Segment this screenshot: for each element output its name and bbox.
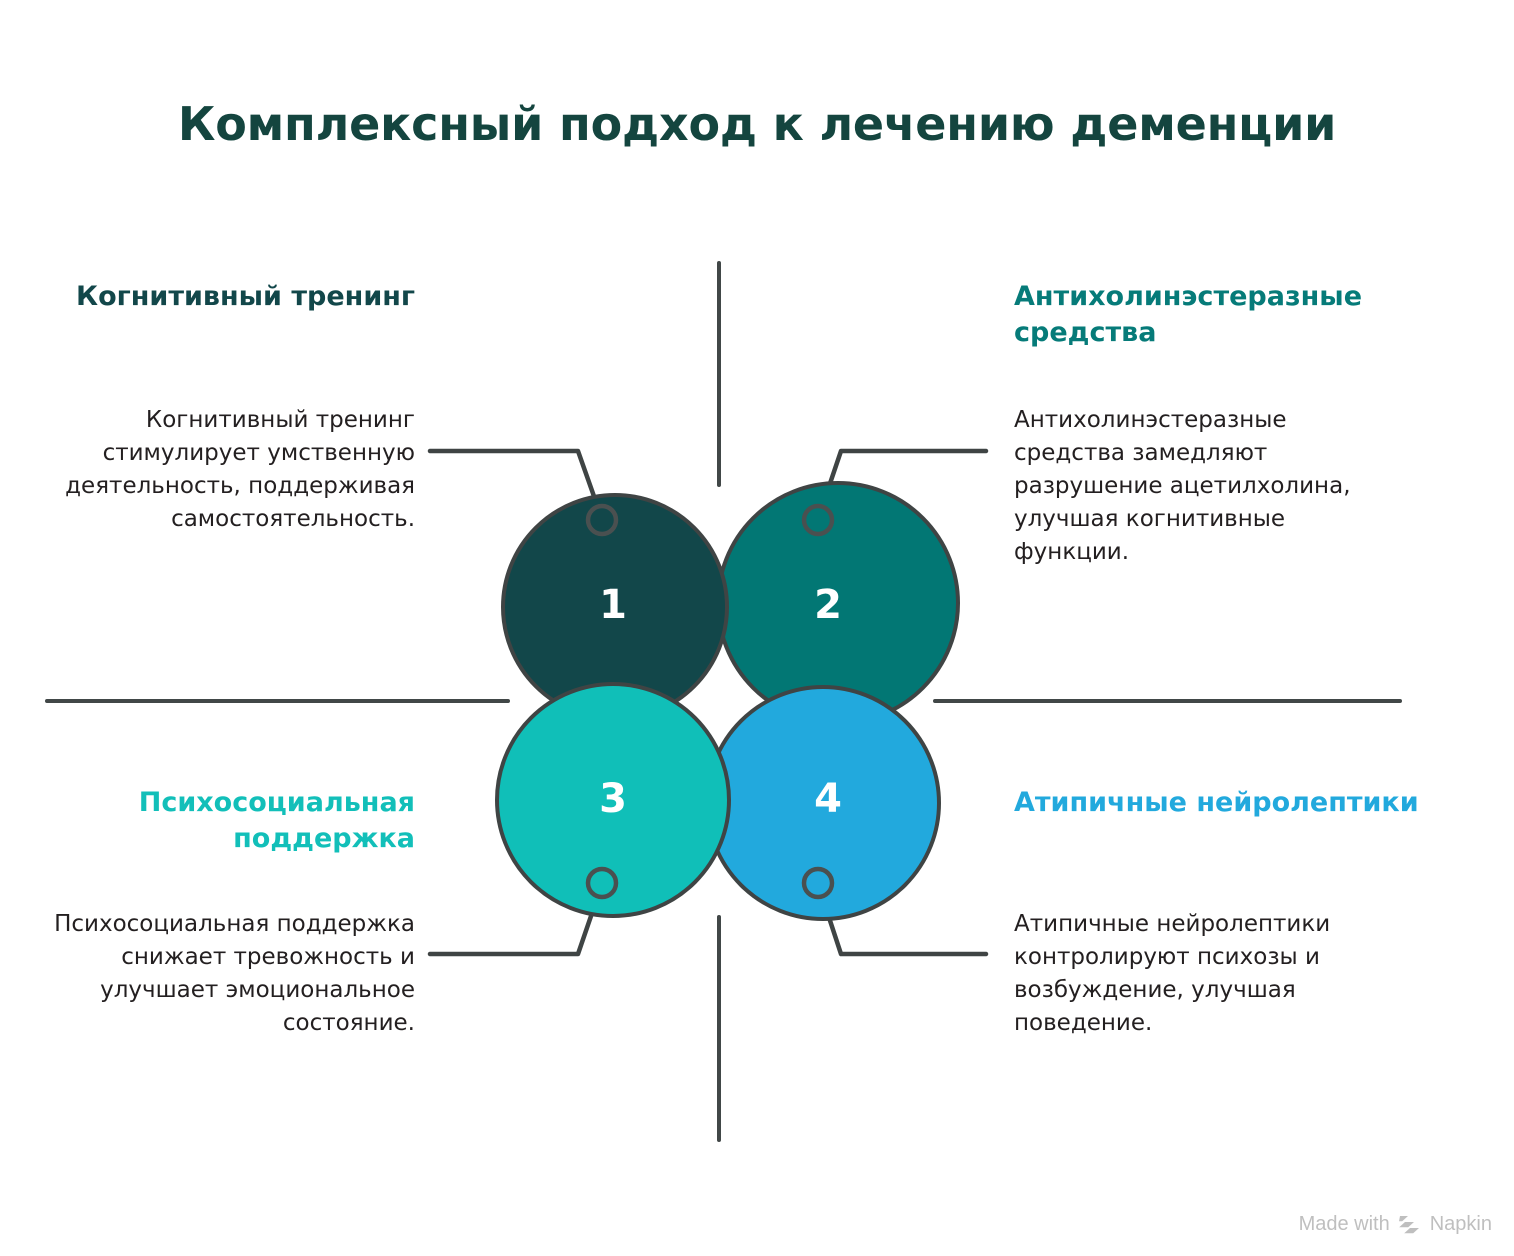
venn-number-4: 4: [814, 776, 842, 822]
quadrant-4-heading: Атипичные нейролептики: [1014, 785, 1444, 821]
made-with-label: Made with: [1299, 1213, 1390, 1236]
napkin-chevron-logo-icon: [1399, 1215, 1421, 1234]
venn-cluster-graphic: 1 2 3 4: [0, 0, 1514, 1256]
venn-number-1: 1: [599, 582, 627, 628]
quadrant-2-body: Антихолинэстеразные средства замедляют р…: [1014, 404, 1364, 568]
quadrant-2-heading: Антихолинэстеразные средства: [1014, 279, 1450, 351]
venn-number-2: 2: [814, 582, 842, 628]
quadrant-1-heading: Когнитивный тренинг: [48, 279, 415, 315]
infographic-canvas: Комплексный подход к лечению деменции: [0, 0, 1514, 1256]
napkin-brand-label: Napkin: [1430, 1213, 1492, 1236]
made-with-napkin-watermark: Made with Napkin: [1299, 1213, 1492, 1236]
quadrant-3-body: Психосоциальная поддержка снижает тревож…: [48, 908, 415, 1040]
venn-number-3: 3: [599, 776, 627, 822]
quadrant-4-body: Атипичные нейролептики контролируют псих…: [1014, 908, 1364, 1040]
quadrant-3-heading: Психосоциальная поддержка: [48, 785, 415, 857]
quadrant-1-body: Когнитивный тренинг стимулирует умственн…: [48, 404, 415, 536]
